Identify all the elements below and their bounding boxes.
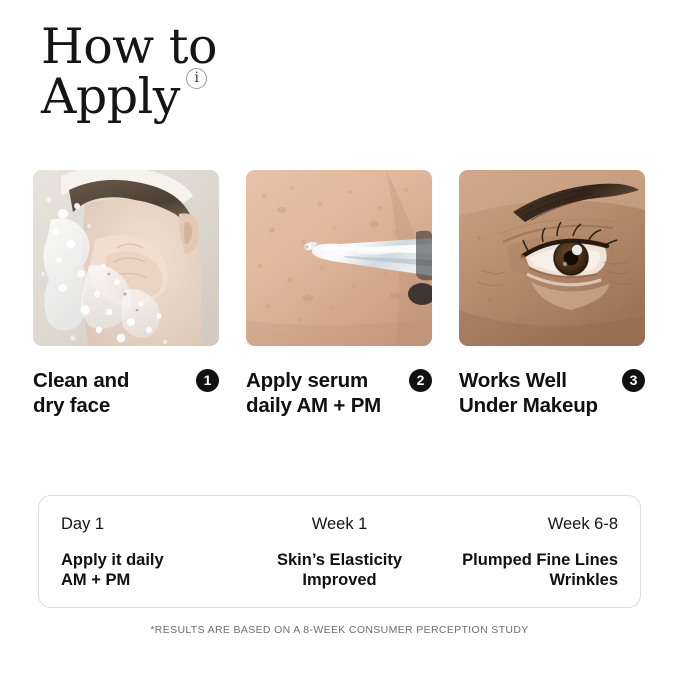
timeline-period-2: Week 1	[247, 514, 433, 534]
step-label-3: Works Well Under Makeup	[459, 368, 598, 418]
step-label-row-3: Works Well Under Makeup 3	[459, 368, 645, 418]
timeline-column-day-1: Day 1 Apply it daily AM + PM	[61, 514, 247, 607]
steps-row: Clean and dry face 1	[33, 170, 646, 418]
woman-washing-face-photo	[33, 170, 219, 346]
timeline-result-3: Plumped Fine Lines Wrinkles	[432, 550, 618, 590]
step-badge-2: 2	[409, 369, 432, 392]
timeline-result-2: Skin’s Elasticity Improved	[247, 550, 433, 590]
step-label-1: Clean and dry face	[33, 368, 129, 418]
step-card-3: Works Well Under Makeup 3	[459, 170, 645, 418]
timeline-period-1: Day 1	[61, 514, 247, 534]
step-label-2: Apply serum daily AM + PM	[246, 368, 381, 418]
step-badge-3: 3	[622, 369, 645, 392]
study-disclaimer: *RESULTS ARE BASED ON A 8-WEEK CONSUMER …	[0, 624, 679, 636]
timeline-period-3: Week 6-8	[432, 514, 618, 534]
timeline-column-week-1: Week 1 Skin’s Elasticity Improved	[247, 514, 433, 607]
step-card-1: Clean and dry face 1	[33, 170, 219, 418]
timeline-result-1: Apply it daily AM + PM	[61, 550, 247, 590]
page-title-line-2: Apply	[41, 68, 180, 125]
step-card-2: Apply serum daily AM + PM 2	[246, 170, 432, 418]
page-title: How to Apply i	[41, 22, 361, 122]
results-timeline-box: Day 1 Apply it daily AM + PM Week 1 Skin…	[38, 495, 641, 608]
eye-close-up-photo	[459, 170, 645, 346]
page-title-line-1: How to	[41, 22, 361, 72]
serum-dropper-on-skin-photo	[246, 170, 432, 346]
page-title-line-2-wrapper: Apply i	[41, 72, 180, 122]
info-icon[interactable]: i	[186, 68, 207, 89]
step-badge-1: 1	[196, 369, 219, 392]
step-label-row-2: Apply serum daily AM + PM 2	[246, 368, 432, 418]
step-label-row-1: Clean and dry face 1	[33, 368, 219, 418]
timeline-column-week-6-8: Week 6-8 Plumped Fine Lines Wrinkles	[432, 514, 618, 607]
